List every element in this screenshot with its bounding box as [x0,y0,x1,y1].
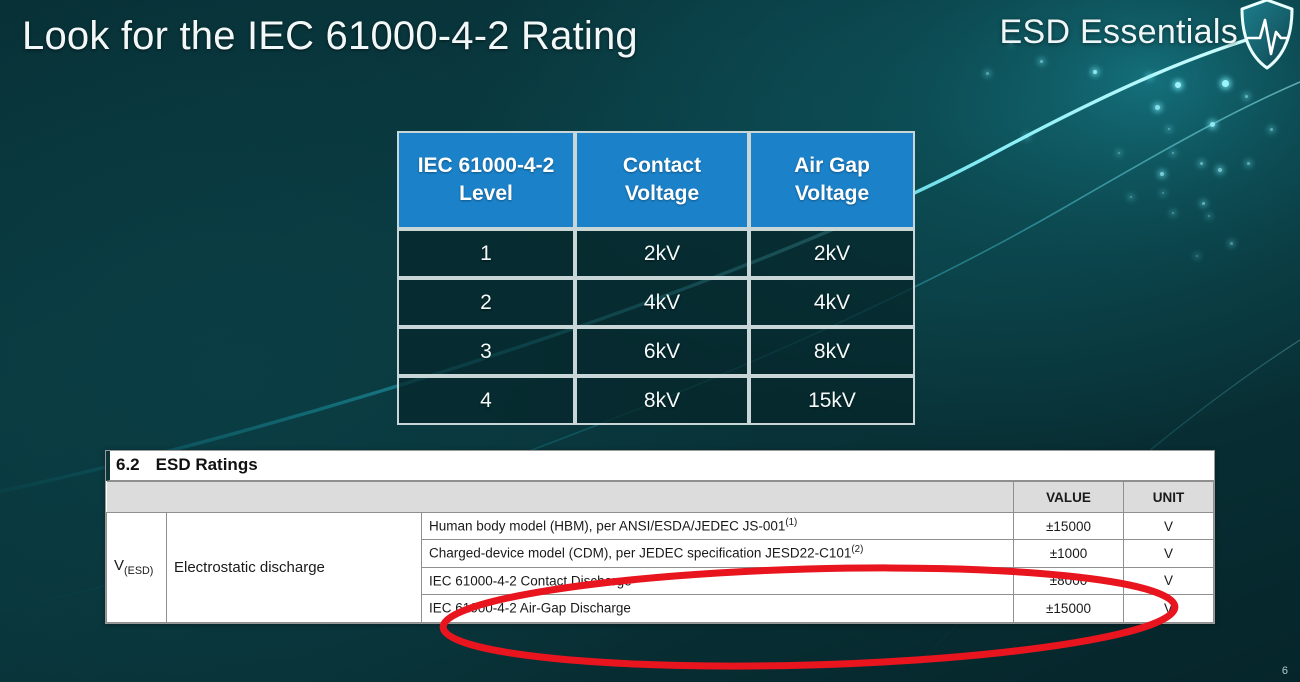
header-contact-voltage: Contact Voltage [575,131,749,229]
datasheet-section-caption: 6.2ESD Ratings [106,451,1214,481]
header-blank [107,482,1014,513]
cell-unit: V [1124,540,1214,567]
datasheet-header-row: VALUE UNIT [107,482,1214,513]
cell-value: ±15000 [1014,595,1124,622]
iec-level-table: IEC 61000-4-2 Level Contact Voltage Air … [397,131,915,425]
datasheet-table: VALUE UNIT V(ESD) Electrostatic discharg… [106,481,1214,623]
condition-text: IEC 61000-4-2 Contact Discharge [429,573,632,588]
cell-airgap: 8kV [749,327,915,376]
cell-value: ±8000 [1014,567,1124,594]
cell-airgap: 15kV [749,376,915,425]
symbol-subscript: (ESD) [124,565,153,577]
page-number: 6 [1282,665,1288,677]
table-row: 3 6kV 8kV [397,327,915,376]
header-airgap-line1: Air Gap [751,152,913,180]
table-row: 1 2kV 2kV [397,229,915,278]
condition-text: Charged-device model (CDM), per JEDEC sp… [429,546,851,561]
cell-unit: V [1124,595,1214,622]
header-airgap-voltage: Air Gap Voltage [749,131,915,229]
cell-value: ±1000 [1014,540,1124,567]
header-iec-level-line2: Level [399,180,573,208]
cell-contact: 8kV [575,376,749,425]
condition-text: Human body model (HBM), per ANSI/ESDA/JE… [429,519,785,534]
table-header-row: IEC 61000-4-2 Level Contact Voltage Air … [397,131,915,229]
cell-level: 1 [397,229,575,278]
cell-unit: V [1124,567,1214,594]
page-title: Look for the IEC 61000-4-2 Rating [22,14,638,59]
header-contact-line1: Contact [577,152,747,180]
header-iec-level-line1: IEC 61000-4-2 [399,152,573,180]
datasheet-row: V(ESD) Electrostatic discharge Human bod… [107,513,1214,540]
cell-unit: V [1124,513,1214,540]
header-airgap-line2: Voltage [751,180,913,208]
table-row: 2 4kV 4kV [397,278,915,327]
table-row: 4 8kV 15kV [397,376,915,425]
cell-condition: Human body model (HBM), per ANSI/ESDA/JE… [422,513,1014,540]
cell-level: 4 [397,376,575,425]
cell-condition: Charged-device model (CDM), per JEDEC sp… [422,540,1014,567]
cell-airgap: 2kV [749,229,915,278]
datasheet-esd-ratings: 6.2ESD Ratings VALUE UNIT V(ESD) Electro… [105,450,1215,624]
header-unit: UNIT [1124,482,1214,513]
section-title: ESD Ratings [156,455,258,474]
cell-airgap: 4kV [749,278,915,327]
header-contact-line2: Voltage [577,180,747,208]
cell-level: 2 [397,278,575,327]
symbol-text: V [114,557,124,574]
cell-value: ±15000 [1014,513,1124,540]
slide-canvas: Look for the IEC 61000-4-2 Rating ESD Es… [0,0,1300,682]
condition-text: IEC 61000-4-2 Air-Gap Discharge [429,601,631,616]
cell-contact: 2kV [575,229,749,278]
condition-footnote: (2) [851,544,863,555]
cell-contact: 6kV [575,327,749,376]
header-iec-level: IEC 61000-4-2 Level [397,131,575,229]
cell-condition: IEC 61000-4-2 Air-Gap Discharge [422,595,1014,622]
cell-condition: IEC 61000-4-2 Contact Discharge [422,567,1014,594]
cell-parameter: Electrostatic discharge [167,513,422,623]
header-value: VALUE [1014,482,1124,513]
section-number: 6.2 [116,455,140,474]
brand-label: ESD Essentials [999,13,1238,52]
cell-level: 3 [397,327,575,376]
shield-pulse-icon [1238,0,1296,70]
cell-symbol: V(ESD) [107,513,167,623]
condition-footnote: (1) [785,517,797,528]
cell-contact: 4kV [575,278,749,327]
